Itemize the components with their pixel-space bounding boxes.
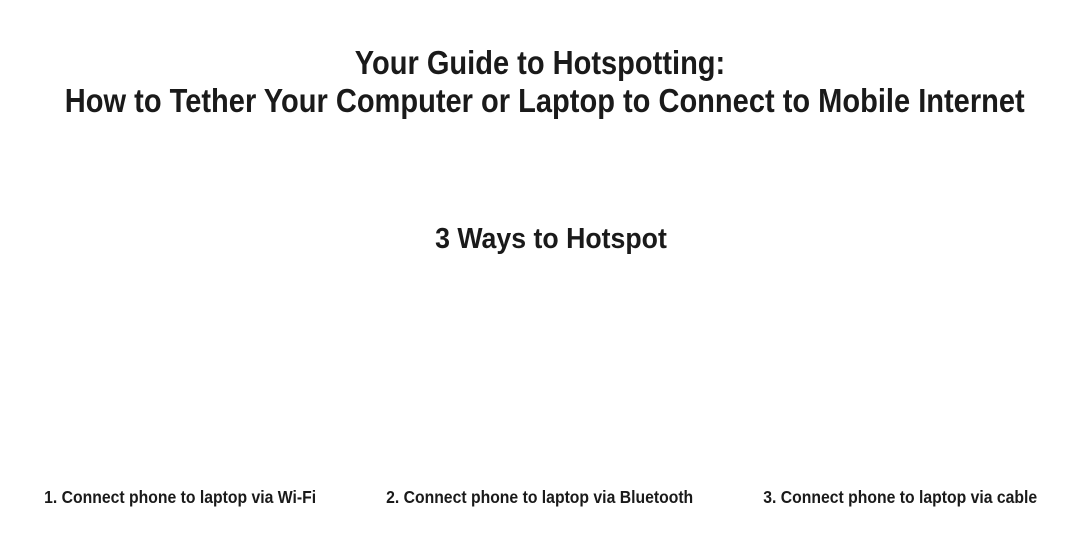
section-heading-text: 3 Ways to Hotspot <box>435 222 667 256</box>
method-caption-wifi: 1. Connect phone to laptop via Wi-Fi <box>0 486 360 512</box>
method-caption-bluetooth-text: 2. Connect phone to laptop via Bluetooth <box>386 486 693 508</box>
section-heading: 3 Ways to Hotspot <box>0 222 1080 256</box>
page-title-line-2: How to Tether Your Computer or Laptop to… <box>65 82 1015 120</box>
method-caption-cable: 3. Connect phone to laptop via cable <box>720 486 1080 512</box>
illustration-band <box>0 280 1080 470</box>
illustration-slot-bluetooth <box>360 280 720 470</box>
page-title-line-1: Your Guide to Hotspotting: <box>65 44 1015 82</box>
method-caption-bluetooth: 2. Connect phone to laptop via Bluetooth <box>360 486 720 512</box>
method-caption-row: 1. Connect phone to laptop via Wi-Fi 2. … <box>0 486 1080 512</box>
illustration-slot-wifi <box>0 280 360 470</box>
method-caption-wifi-text: 1. Connect phone to laptop via Wi-Fi <box>44 486 316 508</box>
infographic-page: Your Guide to Hotspotting: How to Tether… <box>0 0 1080 552</box>
page-title: Your Guide to Hotspotting: How to Tether… <box>0 44 1080 120</box>
method-caption-cable-text: 3. Connect phone to laptop via cable <box>763 486 1037 508</box>
illustration-slot-cable <box>720 280 1080 470</box>
